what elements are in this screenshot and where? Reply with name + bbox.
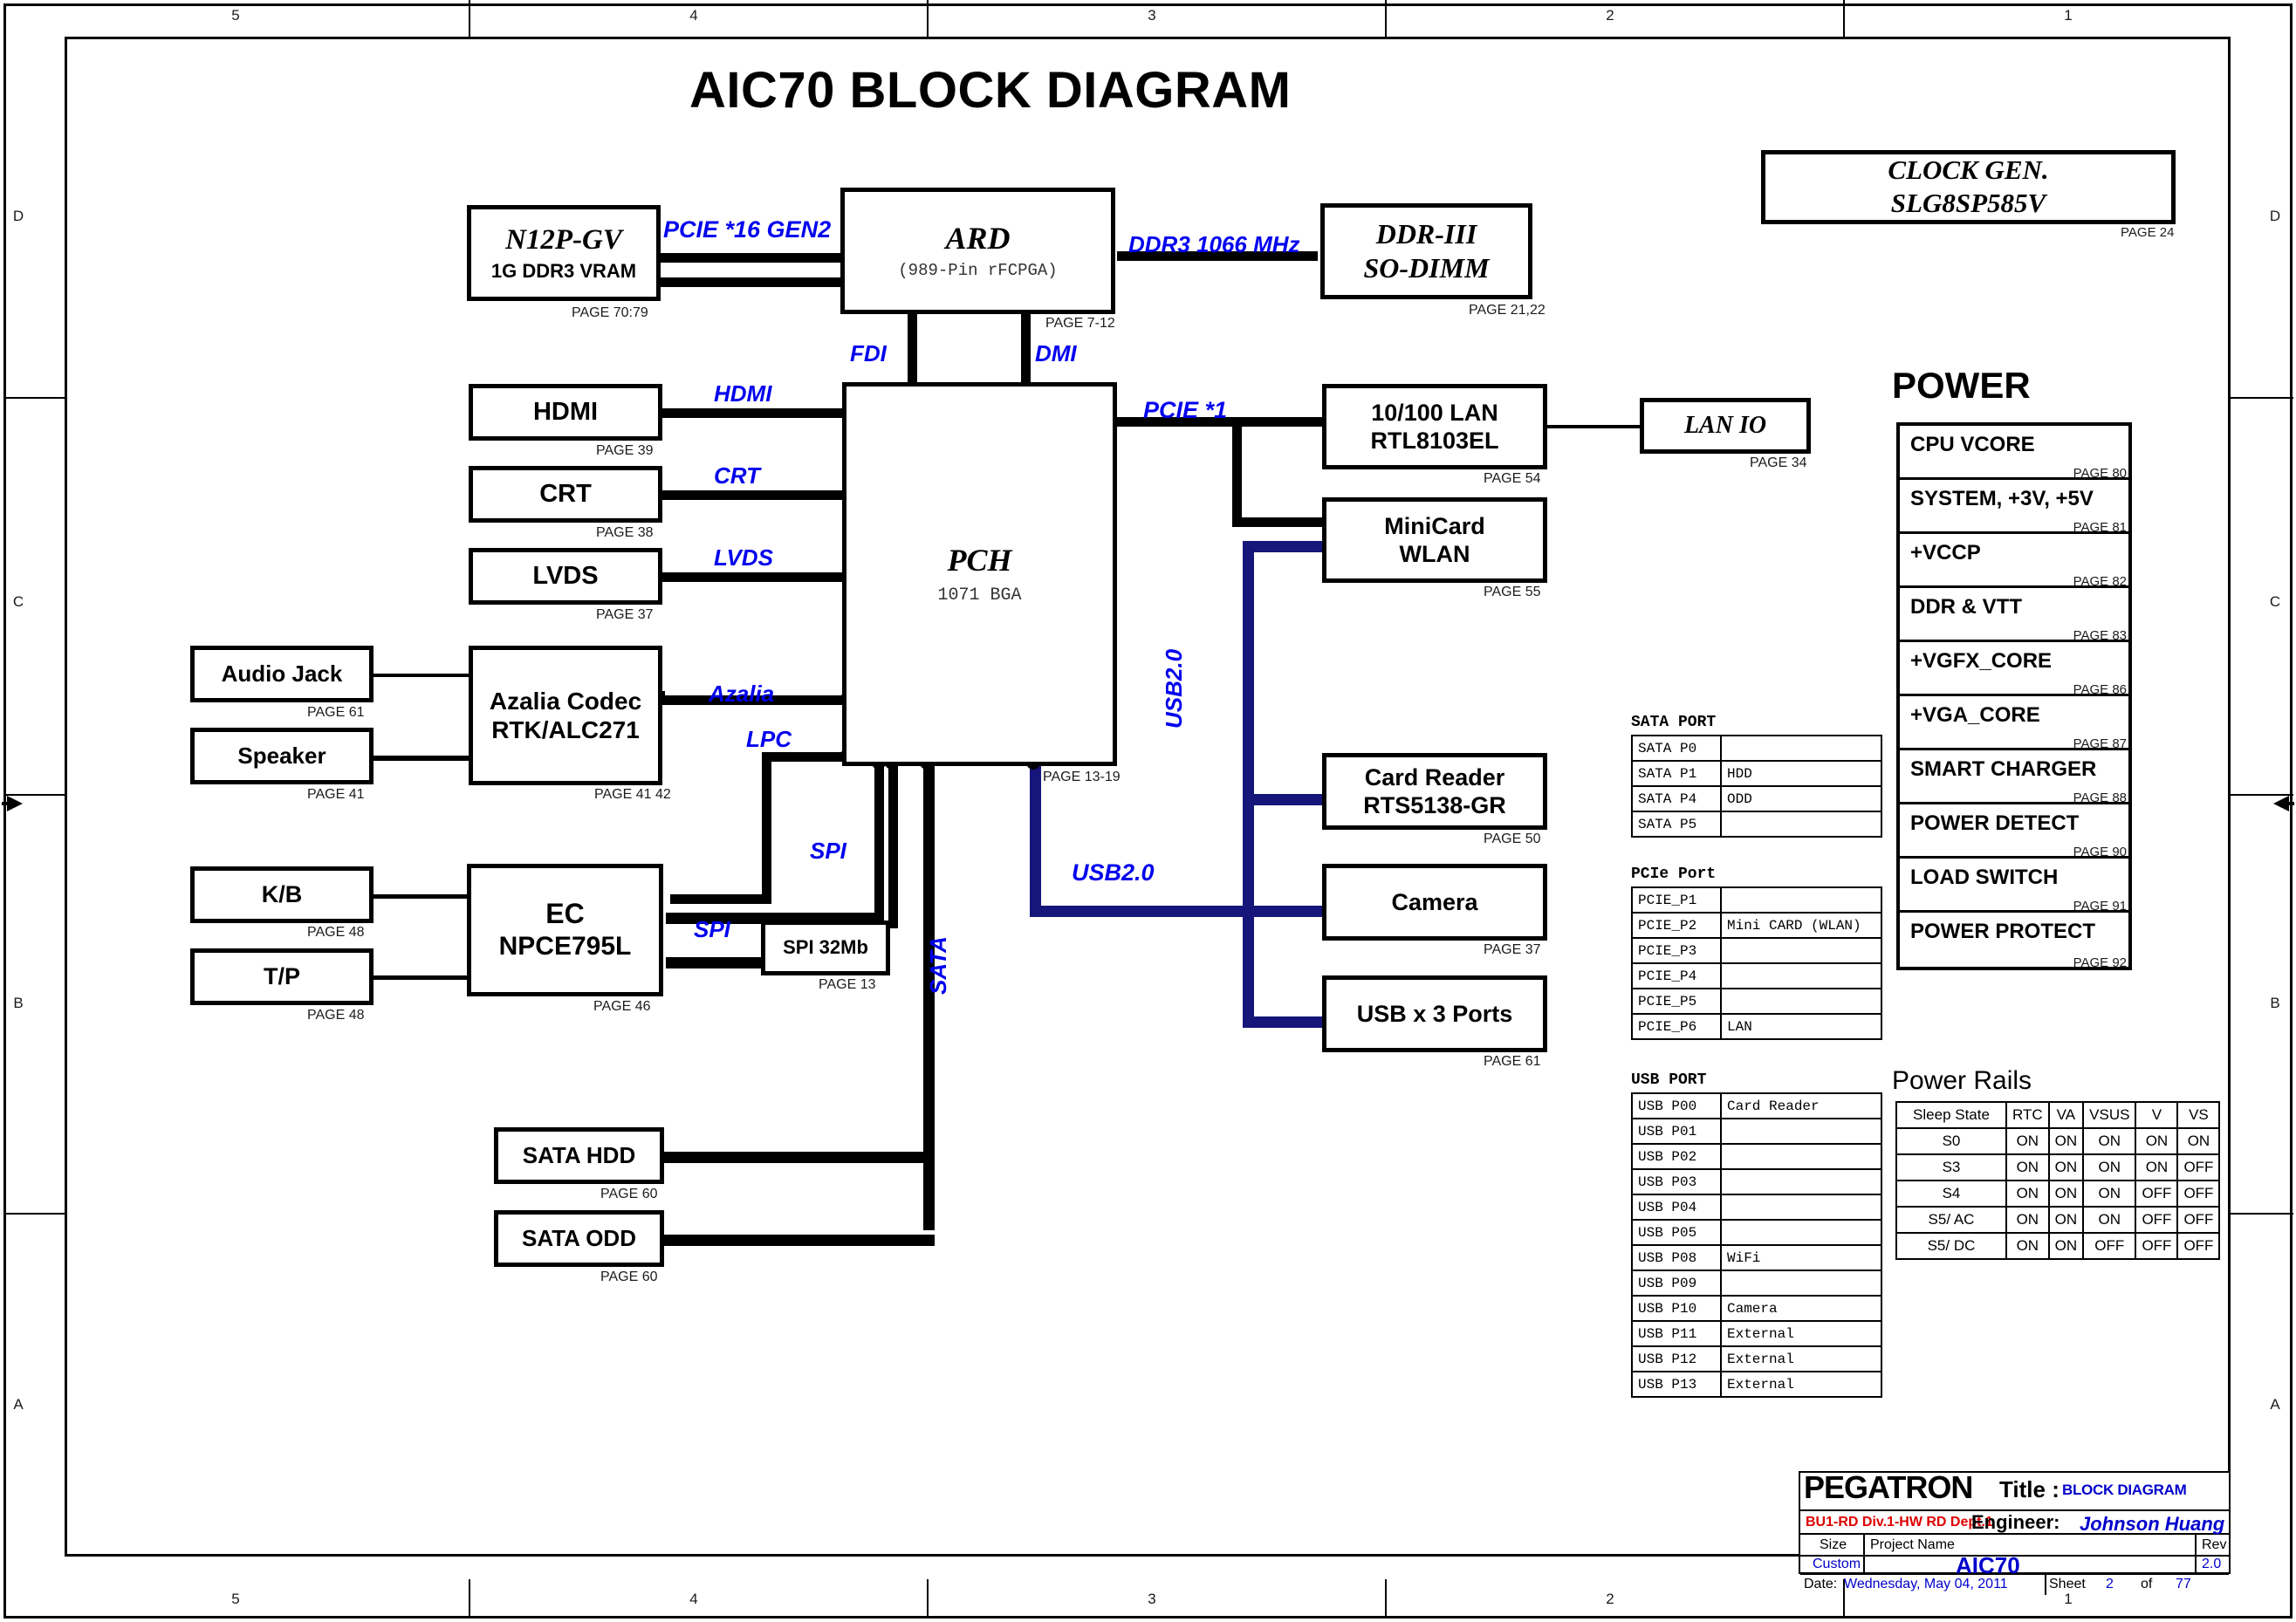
zone-top-5: 5 bbox=[218, 7, 253, 24]
usb-port-name: USB P11 bbox=[1632, 1321, 1721, 1346]
block-gpu-page: PAGE 70:79 bbox=[572, 305, 648, 321]
wire-pcie1-minicard bbox=[1232, 517, 1328, 527]
power-item-label: DDR & VTT bbox=[1910, 595, 2022, 619]
net-label-pcie1: PCIE *1 bbox=[1143, 397, 1227, 424]
zone-tick bbox=[1843, 0, 1845, 37]
sata-port-name: SATA P5 bbox=[1632, 811, 1721, 837]
block-cpu-title: ARD bbox=[945, 221, 1010, 256]
wire-lpc-h bbox=[762, 752, 849, 762]
sata-port-device bbox=[1721, 811, 1881, 837]
title-value: BLOCK DIAGRAM bbox=[2062, 1482, 2186, 1499]
rails-state: S4 bbox=[1896, 1181, 2006, 1207]
block-lan-io-page: PAGE 34 bbox=[1750, 455, 1807, 471]
power-item-page: PAGE 80 bbox=[2073, 466, 2127, 481]
usb-port-name: USB P09 bbox=[1632, 1270, 1721, 1296]
wire-speaker bbox=[374, 756, 469, 761]
block-hdmi-page: PAGE 39 bbox=[596, 443, 654, 459]
block-azalia-codec[interactable]: Azalia Codec RTK/ALC271 bbox=[469, 646, 662, 785]
rails-header: VS bbox=[2177, 1102, 2219, 1128]
usb-port-device: External bbox=[1721, 1346, 1881, 1372]
zone-right-A: A bbox=[2262, 1396, 2288, 1413]
power-item-label: SYSTEM, +3V, +5V bbox=[1910, 487, 2094, 511]
wire-usb-cardreader bbox=[1243, 794, 1330, 805]
zone-tick bbox=[2231, 1213, 2293, 1215]
net-label-lvds: LVDS bbox=[714, 544, 773, 571]
power-item-page: PAGE 88 bbox=[2073, 790, 2127, 805]
block-sata-hdd-page: PAGE 60 bbox=[600, 1187, 658, 1202]
net-label-spi-lower: SPI bbox=[694, 916, 730, 943]
pcie-port-device: LAN bbox=[1721, 1014, 1881, 1039]
block-crt[interactable]: CRT bbox=[469, 466, 662, 523]
table-row: USB P13 External bbox=[1632, 1372, 1881, 1397]
block-card-reader-l2: RTS5138-GR bbox=[1363, 792, 1506, 818]
wire-usb-minicard bbox=[1243, 541, 1328, 552]
power-item-vgfx-core[interactable]: +VGFX_CORE PAGE 86 bbox=[1900, 642, 2128, 696]
pcie-port-name: PCIE_P3 bbox=[1632, 938, 1721, 963]
rails-cell: OFF bbox=[2177, 1207, 2219, 1233]
table-row: PCIE_P6 LAN bbox=[1632, 1014, 1881, 1039]
pcie-port-device: Mini CARD (WLAN) bbox=[1721, 913, 1881, 938]
power-item-page: PAGE 90 bbox=[2073, 845, 2127, 859]
wire-tp bbox=[374, 975, 469, 980]
rails-header: Sleep State bbox=[1896, 1102, 2006, 1128]
zone-right-B: B bbox=[2262, 995, 2288, 1012]
date-label: Date: bbox=[1804, 1577, 1837, 1592]
zone-left-D: D bbox=[5, 208, 31, 225]
net-label-ddr3: DDR3 1066 MHz bbox=[1128, 231, 1300, 258]
pcie-port-caption: PCIe Port bbox=[1631, 866, 1716, 883]
usb-port-name: USB P05 bbox=[1632, 1220, 1721, 1245]
wire-hdmi bbox=[659, 408, 846, 418]
pcie-port-name: PCIE_P1 bbox=[1632, 887, 1721, 913]
wire-pcie16-a bbox=[659, 253, 846, 263]
power-item-page: PAGE 87 bbox=[2073, 736, 2127, 751]
table-row: SATA P0 bbox=[1632, 736, 1881, 761]
block-lan-l1: 10/100 LAN bbox=[1371, 400, 1498, 426]
zone-bottom-2: 2 bbox=[1593, 1591, 1628, 1608]
block-camera-label: Camera bbox=[1391, 889, 1477, 915]
table-row: USB P08 WiFi bbox=[1632, 1245, 1881, 1270]
wire-sata-hdd bbox=[659, 1152, 935, 1163]
block-sata-odd-label: SATA ODD bbox=[522, 1226, 636, 1251]
block-clock-gen-page: PAGE 24 bbox=[2121, 225, 2174, 240]
table-row: PCIE_P2 Mini CARD (WLAN) bbox=[1632, 913, 1881, 938]
usb-port-device bbox=[1721, 1169, 1881, 1194]
power-item-label: +VGFX_CORE bbox=[1910, 649, 2052, 674]
table-row: USB P03 bbox=[1632, 1169, 1881, 1194]
net-label-dmi: DMI bbox=[1035, 340, 1077, 367]
rev-value: 2.0 bbox=[2202, 1557, 2221, 1572]
block-card-reader[interactable]: Card Reader RTS5138-GR bbox=[1322, 753, 1547, 830]
rails-cell: ON bbox=[2006, 1154, 2049, 1181]
sheet-number: 2 bbox=[2106, 1577, 2114, 1592]
usb-port-name: USB P03 bbox=[1632, 1169, 1721, 1194]
usb-port-device: WiFi bbox=[1721, 1245, 1881, 1270]
block-so-dimm[interactable]: DDR-III SO-DIMM bbox=[1320, 203, 1532, 299]
power-item-page: PAGE 81 bbox=[2073, 520, 2127, 535]
wire-dmi bbox=[1021, 311, 1031, 387]
sata-port-caption: SATA PORT bbox=[1631, 714, 1716, 731]
usb-port-table: USB P00 Card Reader USB P01 USB P02 USB … bbox=[1631, 1092, 1882, 1398]
power-item-label: CPU VCORE bbox=[1910, 433, 2035, 457]
rails-header: RTC bbox=[2006, 1102, 2049, 1128]
block-camera[interactable]: Camera bbox=[1322, 864, 1547, 941]
wire-kb bbox=[374, 894, 469, 899]
rails-state: S3 bbox=[1896, 1154, 2006, 1181]
power-item-vccp[interactable]: +VCCP PAGE 82 bbox=[1900, 534, 2128, 588]
block-camera-page: PAGE 37 bbox=[1484, 942, 1541, 958]
project-value: AIC70 bbox=[1956, 1552, 2020, 1579]
right-edge-arrow-stem bbox=[2286, 802, 2294, 805]
pcie-port-name: PCIE_P2 bbox=[1632, 913, 1721, 938]
block-usb-ports-page: PAGE 61 bbox=[1484, 1054, 1541, 1070]
table-row: PCIE_P4 bbox=[1632, 963, 1881, 989]
wire-sata-odd bbox=[659, 1235, 935, 1246]
table-row: USB P01 bbox=[1632, 1119, 1881, 1144]
block-lan-l2: RTL8103EL bbox=[1370, 428, 1498, 454]
usb-port-device bbox=[1721, 1119, 1881, 1144]
zone-tick bbox=[469, 0, 470, 37]
block-minicard-l1: MiniCard bbox=[1384, 513, 1485, 539]
wire-spi-flash bbox=[666, 957, 762, 968]
usb-port-device: Card Reader bbox=[1721, 1093, 1881, 1119]
rails-cell: ON bbox=[2049, 1154, 2084, 1181]
power-item-page: PAGE 91 bbox=[2073, 899, 2127, 914]
block-cpu-subtitle: (989-Pin rFCPGA) bbox=[898, 262, 1057, 281]
block-hdmi-label: HDMI bbox=[533, 398, 598, 426]
zone-tick bbox=[927, 0, 929, 37]
net-label-pcie16: PCIE *16 GEN2 bbox=[663, 216, 831, 243]
block-spi-flash-page: PAGE 13 bbox=[819, 977, 876, 993]
zone-right-C: C bbox=[2262, 593, 2288, 611]
pcie-port-name: PCIE_P5 bbox=[1632, 989, 1721, 1014]
sheet-label: Sheet bbox=[2049, 1577, 2086, 1592]
wire-usb-trunk-v bbox=[1243, 541, 1254, 1027]
block-ec-l2: NPCE795L bbox=[499, 932, 632, 962]
net-label-spi-upper: SPI bbox=[810, 838, 846, 865]
sata-port-device bbox=[1721, 736, 1881, 761]
block-ec[interactable]: EC NPCE795L bbox=[467, 864, 663, 996]
block-so-dimm-l2: SO-DIMM bbox=[1363, 252, 1489, 284]
title-block-row-4: Custom AIC70 2.0 bbox=[1800, 1557, 2229, 1575]
net-label-usb20-horizontal: USB2.0 bbox=[1072, 859, 1155, 886]
engineer-label: Engineer: bbox=[1971, 1511, 2060, 1534]
net-label-usb20-vertical: USB2.0 bbox=[1161, 649, 1188, 729]
block-minicard-wlan[interactable]: MiniCard WLAN bbox=[1322, 497, 1547, 583]
wire-crt bbox=[659, 490, 846, 500]
block-pch[interactable]: PCH 1071 BGA bbox=[842, 382, 1117, 766]
power-item-ddr-vtt[interactable]: DDR & VTT PAGE 83 bbox=[1900, 588, 2128, 642]
title-label: Title : bbox=[1999, 1476, 2060, 1503]
block-lan[interactable]: 10/100 LAN RTL8103EL bbox=[1322, 384, 1547, 469]
rails-cell: ON bbox=[2049, 1233, 2084, 1259]
table-row: S3 ON ON ON ON OFF bbox=[1896, 1154, 2219, 1181]
table-row: S5/ AC ON ON ON OFF OFF bbox=[1896, 1207, 2219, 1233]
block-usb-ports-label: USB x 3 Ports bbox=[1357, 1001, 1513, 1027]
wire-spi-flash-up bbox=[888, 763, 898, 928]
pegatron-logo: PEGATRON bbox=[1804, 1469, 1972, 1506]
rails-cell: ON bbox=[2049, 1128, 2084, 1154]
power-item-smart-charger[interactable]: SMART CHARGER PAGE 88 bbox=[1900, 750, 2128, 804]
zone-tick bbox=[1385, 1579, 1387, 1619]
table-row: PCIE_P1 bbox=[1632, 887, 1881, 913]
rails-cell: OFF bbox=[2135, 1207, 2177, 1233]
block-ec-l1: EC bbox=[545, 899, 584, 930]
block-audio-jack-page: PAGE 61 bbox=[307, 705, 365, 721]
rails-cell: ON bbox=[2083, 1128, 2135, 1154]
zone-top-1: 1 bbox=[2051, 7, 2086, 24]
block-sata-odd[interactable]: SATA ODD bbox=[494, 1210, 664, 1267]
zone-tick bbox=[927, 1579, 929, 1619]
schematic-sheet: 5 4 3 2 1 5 4 3 2 1 D C B A D C B A AIC7… bbox=[0, 0, 2296, 1622]
wire-lanio bbox=[1546, 425, 1642, 428]
table-row: S0 ON ON ON ON ON bbox=[1896, 1128, 2219, 1154]
power-item-label: SMART CHARGER bbox=[1910, 757, 2096, 782]
block-touchpad-page: PAGE 48 bbox=[307, 1008, 365, 1023]
table-row: USB P05 bbox=[1632, 1220, 1881, 1245]
wire-usb-pch-h bbox=[1030, 906, 1254, 917]
table-row: USB P02 bbox=[1632, 1144, 1881, 1169]
zone-top-4: 4 bbox=[676, 7, 711, 24]
pcie-port-name: PCIE_P6 bbox=[1632, 1014, 1721, 1039]
zone-tick bbox=[3, 397, 66, 399]
block-speaker-page: PAGE 41 bbox=[307, 787, 365, 803]
block-speaker-label: Speaker bbox=[237, 743, 326, 769]
sata-port-name: SATA P0 bbox=[1632, 736, 1721, 761]
usb-port-name: USB P13 bbox=[1632, 1372, 1721, 1397]
net-label-azalia: Azalia bbox=[709, 681, 774, 708]
block-azalia-codec-page: PAGE 41 42 bbox=[594, 787, 671, 803]
block-keyboard-label: K/B bbox=[262, 881, 303, 907]
block-audio-jack-label: Audio Jack bbox=[222, 661, 343, 687]
block-gpu-subtitle: 1G DDR3 VRAM bbox=[491, 260, 636, 282]
table-row: USB P12 External bbox=[1632, 1346, 1881, 1372]
table-header-row: Sleep State RTC VA VSUS V VS bbox=[1896, 1102, 2219, 1128]
power-item-system-3v-5v[interactable]: SYSTEM, +3V, +5V PAGE 81 bbox=[1900, 480, 2128, 534]
rails-cell: OFF bbox=[2135, 1181, 2177, 1207]
sata-port-name: SATA P1 bbox=[1632, 761, 1721, 786]
sata-port-table: SATA P0 SATA P1 HDD SATA P4 ODD SATA P5 bbox=[1631, 735, 1882, 838]
block-so-dimm-l1: DDR-III bbox=[1376, 219, 1477, 250]
dept-label: BU1-RD Div.1-HW RD Dept.1 bbox=[1806, 1515, 1993, 1530]
block-clock-gen-l1: CLOCK GEN. bbox=[1888, 155, 2048, 186]
sata-port-name: SATA P4 bbox=[1632, 786, 1721, 811]
usb-port-device: External bbox=[1721, 1372, 1881, 1397]
block-cpu-ard[interactable]: ARD (989-Pin rFCPGA) bbox=[840, 188, 1115, 314]
sata-port-device: HDD bbox=[1721, 761, 1881, 786]
block-crt-page: PAGE 38 bbox=[596, 525, 654, 541]
rails-cell: ON bbox=[2006, 1128, 2049, 1154]
power-item-label: +VGA_CORE bbox=[1910, 703, 2040, 728]
block-lan-io-label: LAN IO bbox=[1684, 412, 1766, 439]
usb-port-name: USB P10 bbox=[1632, 1296, 1721, 1321]
block-lvds-page: PAGE 37 bbox=[596, 607, 654, 623]
table-row: PCIE_P3 bbox=[1632, 938, 1881, 963]
wire-lvds bbox=[659, 572, 846, 582]
power-rails-caption: Power Rails bbox=[1892, 1066, 2032, 1096]
zone-bottom-5: 5 bbox=[218, 1591, 253, 1608]
rails-header: VA bbox=[2049, 1102, 2084, 1128]
usb-port-device: Camera bbox=[1721, 1296, 1881, 1321]
block-spi-flash-label: SPI 32Mb bbox=[783, 937, 868, 959]
date-value: Wednesday, May 04, 2011 bbox=[1844, 1577, 2008, 1592]
rails-cell: ON bbox=[2177, 1128, 2219, 1154]
sheet-total: 77 bbox=[2176, 1577, 2191, 1592]
power-item-label: +VCCP bbox=[1910, 541, 1981, 565]
left-edge-arrow-stem bbox=[2, 802, 10, 805]
rails-cell: OFF bbox=[2177, 1154, 2219, 1181]
block-azalia-codec-l2: RTK/ALC271 bbox=[491, 716, 640, 743]
block-pch-page: PAGE 13-19 bbox=[1043, 770, 1121, 785]
title-block-row-2: BU1-RD Div.1-HW RD Dept.1 Engineer: John… bbox=[1800, 1511, 2229, 1535]
block-spi-flash[interactable]: SPI 32Mb bbox=[761, 921, 890, 975]
block-gpu[interactable]: N12P-GV 1G DDR3 VRAM bbox=[467, 205, 661, 301]
rails-cell: ON bbox=[2006, 1233, 2049, 1259]
block-lvds[interactable]: LVDS bbox=[469, 548, 662, 605]
block-sata-hdd[interactable]: SATA HDD bbox=[494, 1127, 664, 1184]
power-item-vga-core[interactable]: +VGA_CORE PAGE 87 bbox=[1900, 696, 2128, 750]
rails-cell: ON bbox=[2049, 1181, 2084, 1207]
block-sata-odd-page: PAGE 60 bbox=[600, 1270, 658, 1285]
pcie-port-device bbox=[1721, 887, 1881, 913]
pcie-port-table: PCIE_P1 PCIE_P2 Mini CARD (WLAN) PCIE_P3… bbox=[1631, 886, 1882, 1040]
size-label: Size bbox=[1820, 1537, 1847, 1553]
zone-bottom-1: 1 bbox=[2051, 1591, 2086, 1608]
title-block: PEGATRON Title : BLOCK DIAGRAM BU1-RD Di… bbox=[1799, 1471, 2231, 1574]
usb-port-device: External bbox=[1721, 1321, 1881, 1346]
pcie-port-device bbox=[1721, 989, 1881, 1014]
power-item-page: PAGE 92 bbox=[2073, 955, 2127, 970]
engineer-value: Johnson Huang bbox=[2080, 1513, 2224, 1536]
rails-cell: OFF bbox=[2177, 1233, 2219, 1259]
wire-usb-camera bbox=[1243, 906, 1330, 917]
block-pch-title: PCH bbox=[947, 543, 1011, 578]
power-item-label: POWER DETECT bbox=[1910, 811, 2079, 836]
block-azalia-codec-l1: Azalia Codec bbox=[490, 688, 641, 715]
block-hdmi[interactable]: HDMI bbox=[469, 384, 662, 441]
rails-cell: ON bbox=[2135, 1128, 2177, 1154]
rails-cell: ON bbox=[2083, 1154, 2135, 1181]
net-label-crt: CRT bbox=[714, 462, 760, 489]
block-so-dimm-page: PAGE 21,22 bbox=[1469, 303, 1546, 318]
zone-top-3: 3 bbox=[1134, 7, 1169, 24]
block-minicard-l2: WLAN bbox=[1400, 541, 1470, 567]
table-row: USB P04 bbox=[1632, 1194, 1881, 1220]
power-item-load-switch[interactable]: LOAD SWITCH PAGE 91 bbox=[1900, 859, 2128, 913]
usb-port-name: USB P12 bbox=[1632, 1346, 1721, 1372]
usb-port-device bbox=[1721, 1270, 1881, 1296]
power-item-power-detect[interactable]: POWER DETECT PAGE 90 bbox=[1900, 804, 2128, 859]
zone-top-2: 2 bbox=[1593, 7, 1628, 24]
rails-header: V bbox=[2135, 1102, 2177, 1128]
block-clock-gen[interactable]: CLOCK GEN. SLG8SP585V bbox=[1761, 150, 2176, 224]
table-row: USB P09 bbox=[1632, 1270, 1881, 1296]
zone-tick bbox=[1385, 0, 1387, 37]
title-block-row-1: PEGATRON Title : BLOCK DIAGRAM bbox=[1800, 1473, 2229, 1511]
block-gpu-title: N12P-GV bbox=[505, 224, 622, 257]
usb-port-caption: USB PORT bbox=[1631, 1071, 1706, 1089]
block-touchpad[interactable]: T/P bbox=[190, 948, 374, 1005]
wire-usb-pch-v bbox=[1030, 763, 1041, 906]
wire-fdi bbox=[908, 311, 917, 387]
block-clock-gen-l2: SLG8SP585V bbox=[1891, 188, 2046, 219]
table-row: PCIE_P5 bbox=[1632, 989, 1881, 1014]
rails-cell: ON bbox=[2006, 1207, 2049, 1233]
rev-label: Rev bbox=[2202, 1537, 2226, 1553]
table-row: S5/ DC ON ON OFF OFF OFF bbox=[1896, 1233, 2219, 1259]
sata-port-device: ODD bbox=[1721, 786, 1881, 811]
block-lvds-label: LVDS bbox=[532, 562, 598, 590]
table-row: USB P11 External bbox=[1632, 1321, 1881, 1346]
power-item-page: PAGE 83 bbox=[2073, 628, 2127, 643]
zone-bottom-4: 4 bbox=[676, 1591, 711, 1608]
usb-port-name: USB P02 bbox=[1632, 1144, 1721, 1169]
power-item-cpu-vcore[interactable]: CPU VCORE PAGE 80 bbox=[1900, 426, 2128, 480]
pcie-port-name: PCIE_P4 bbox=[1632, 963, 1721, 989]
power-list: CPU VCORE PAGE 80 SYSTEM, +3V, +5V PAGE … bbox=[1896, 422, 2132, 970]
block-audio-jack[interactable]: Audio Jack bbox=[190, 646, 374, 702]
block-lan-io[interactable]: LAN IO bbox=[1640, 398, 1811, 454]
usb-port-device bbox=[1721, 1144, 1881, 1169]
block-ec-page: PAGE 46 bbox=[593, 999, 651, 1015]
power-item-power-protect[interactable]: POWER PROTECT PAGE 92 bbox=[1900, 913, 2128, 967]
net-label-hdmi: HDMI bbox=[714, 380, 771, 407]
block-card-reader-page: PAGE 50 bbox=[1484, 832, 1541, 847]
sheet-of-label: of bbox=[2141, 1577, 2152, 1592]
block-keyboard-page: PAGE 48 bbox=[307, 925, 365, 941]
power-item-page: PAGE 86 bbox=[2073, 682, 2127, 697]
zone-left-A: A bbox=[5, 1396, 31, 1413]
block-crt-label: CRT bbox=[539, 480, 592, 508]
block-keyboard[interactable]: K/B bbox=[190, 866, 374, 923]
power-rails-table: Sleep State RTC VA VSUS V VS S0 ON ON ON… bbox=[1895, 1101, 2220, 1260]
zone-tick bbox=[2231, 397, 2293, 399]
wire-usb-ports bbox=[1243, 1016, 1330, 1028]
block-card-reader-l1: Card Reader bbox=[1365, 764, 1505, 790]
rails-cell: ON bbox=[2006, 1181, 2049, 1207]
table-row: USB P10 Camera bbox=[1632, 1296, 1881, 1321]
usb-port-name: USB P04 bbox=[1632, 1194, 1721, 1220]
zone-bottom-3: 3 bbox=[1134, 1591, 1169, 1608]
block-touchpad-label: T/P bbox=[264, 963, 300, 989]
table-row: SATA P1 HDD bbox=[1632, 761, 1881, 786]
wire-audiojack bbox=[374, 674, 469, 677]
power-item-label: POWER PROTECT bbox=[1910, 920, 2095, 944]
wire-pcie1-v bbox=[1232, 417, 1242, 527]
block-usb-ports[interactable]: USB x 3 Ports bbox=[1322, 975, 1547, 1052]
block-cpu-page: PAGE 7-12 bbox=[1045, 316, 1115, 332]
zone-tick bbox=[3, 1213, 66, 1215]
table-row: USB P00 Card Reader bbox=[1632, 1093, 1881, 1119]
rails-cell: ON bbox=[2049, 1207, 2084, 1233]
power-item-label: LOAD SWITCH bbox=[1910, 866, 2058, 890]
block-speaker[interactable]: Speaker bbox=[190, 728, 374, 784]
wire-pcie16-b bbox=[659, 277, 846, 287]
zone-left-C: C bbox=[5, 593, 31, 611]
usb-port-name: USB P08 bbox=[1632, 1245, 1721, 1270]
usb-port-device bbox=[1721, 1194, 1881, 1220]
size-value: Custom bbox=[1813, 1557, 1861, 1572]
rails-header: VSUS bbox=[2083, 1102, 2135, 1128]
net-label-fdi: FDI bbox=[850, 340, 887, 367]
pcie-port-device bbox=[1721, 938, 1881, 963]
wire-lpc-v bbox=[762, 752, 771, 904]
block-sata-hdd-label: SATA HDD bbox=[523, 1143, 636, 1168]
block-pch-subtitle: 1071 BGA bbox=[937, 585, 1021, 606]
rails-cell: ON bbox=[2135, 1154, 2177, 1181]
project-label: Project Name bbox=[1870, 1537, 1955, 1553]
rails-cell: OFF bbox=[2135, 1233, 2177, 1259]
